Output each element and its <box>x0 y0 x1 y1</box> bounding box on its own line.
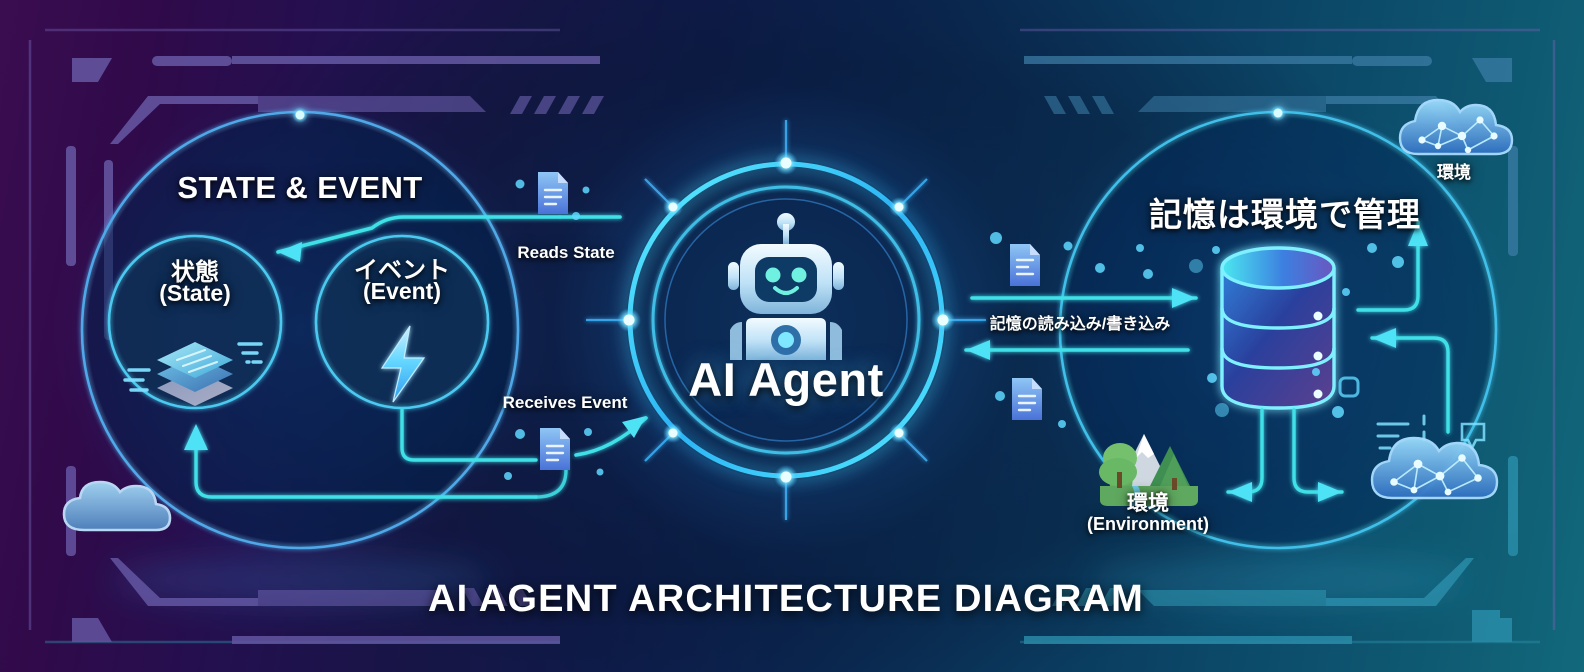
database-cylinder-icon[interactable] <box>1222 248 1334 408</box>
document-icon-memory-top <box>1010 244 1040 286</box>
event-node-label-en: (Event) <box>363 278 441 305</box>
reads-state-label: Reads State <box>517 243 614 263</box>
right-cluster-heading: 記憶は環境で管理 <box>1149 188 1421 236</box>
document-icon-memory-bottom <box>1012 378 1042 420</box>
environment-label-en: (Environment) <box>1087 514 1209 535</box>
state-node-label-en: (State) <box>159 280 231 307</box>
ai-agent-label: AI Agent <box>688 352 883 407</box>
memory-rw-label: 記憶の読み込み/書き込み <box>990 310 1170 334</box>
diagram-canvas: STATE & EVENT 状態 (State) イベント (Event) Re… <box>0 0 1584 672</box>
ai-agent-node[interactable] <box>586 120 986 520</box>
diagram-svg <box>0 0 1584 672</box>
network-cloud-icon-top <box>1400 100 1512 154</box>
page-title: AI AGENT ARCHITECTURE DIAGRAM <box>428 578 1144 621</box>
document-icon-reads-state <box>538 172 568 214</box>
environment-label-jp: 環境 <box>1127 487 1169 517</box>
document-icon-receives-event <box>540 428 570 470</box>
left-cluster-heading: STATE & EVENT <box>177 170 422 206</box>
cloud-top-label: 環境 <box>1437 158 1471 183</box>
receives-event-label: Receives Event <box>503 393 628 413</box>
